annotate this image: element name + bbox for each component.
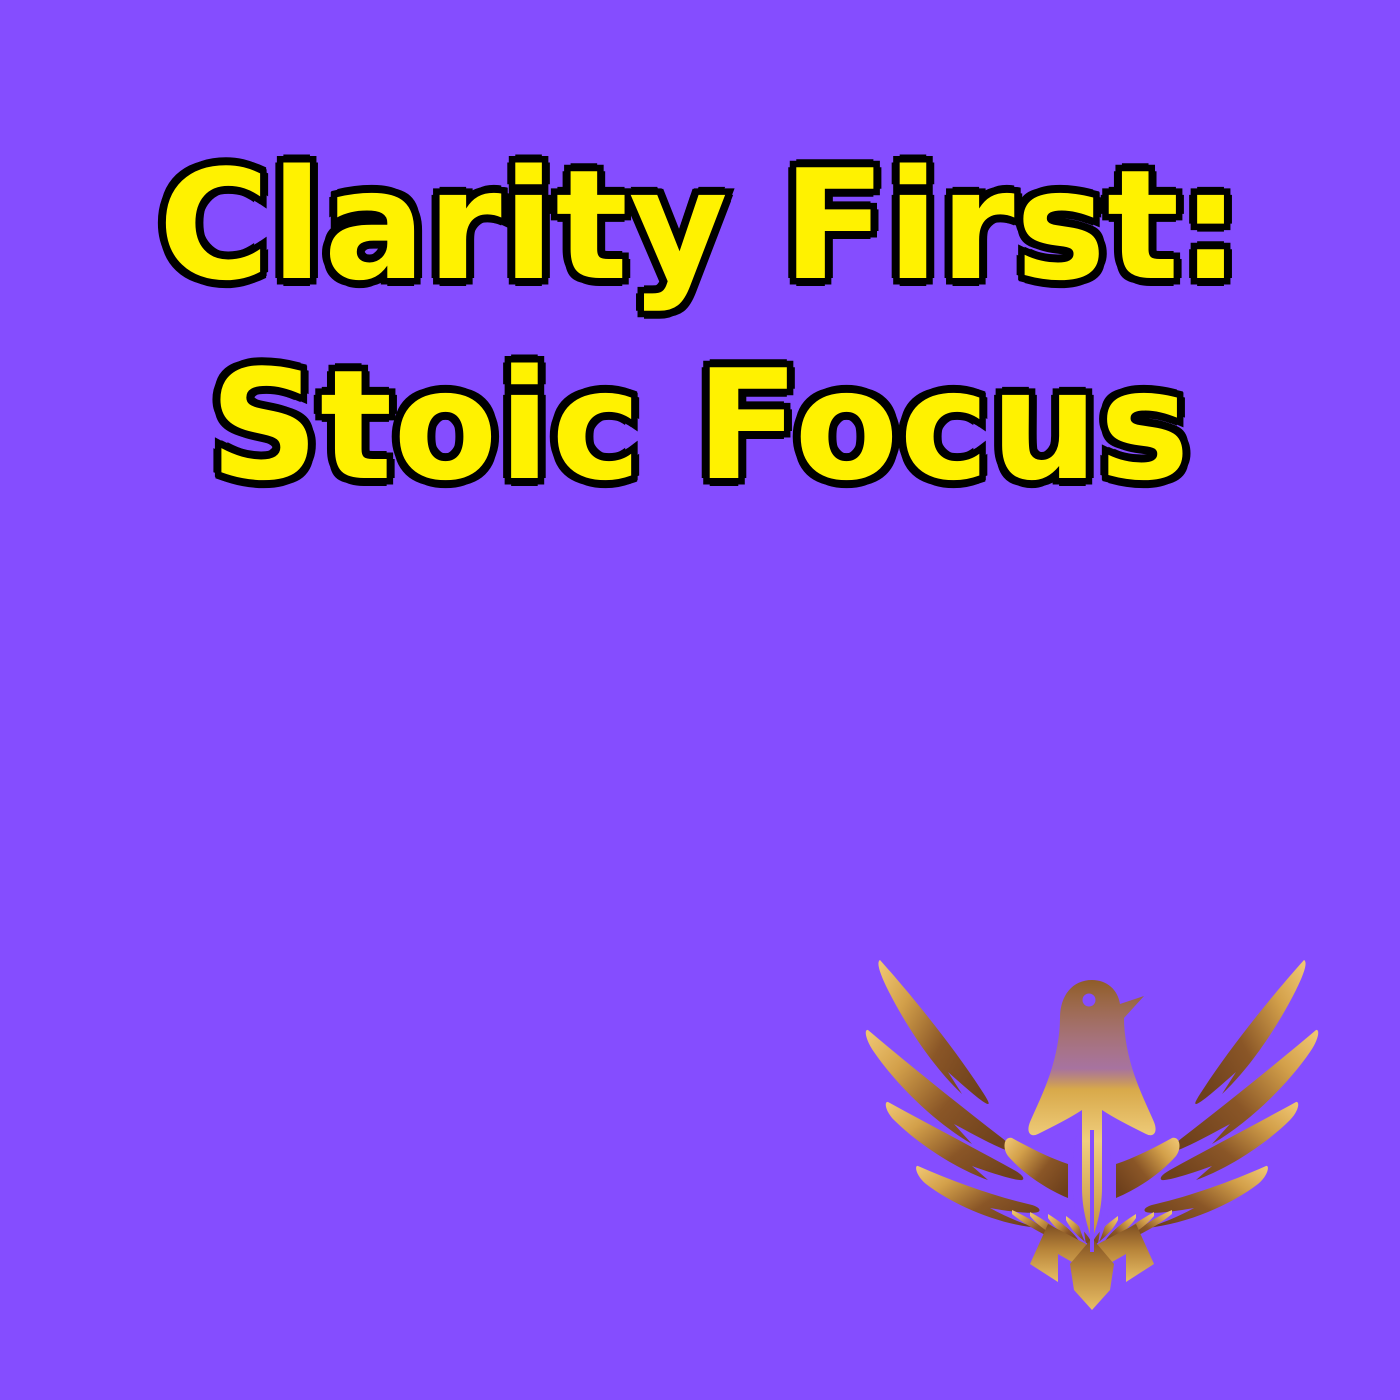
cover-art-canvas: Clarity First: Stoic Focus: [0, 0, 1400, 1400]
left-wing: [866, 960, 1068, 1228]
title-line-1: Clarity First:: [0, 150, 1400, 302]
phoenix-logo: [862, 952, 1322, 1312]
eye-icon: [1083, 994, 1096, 1007]
phoenix-bird-icon: [862, 952, 1322, 1312]
page-title: Clarity First: Stoic Focus: [0, 150, 1400, 502]
title-line-2: Stoic Focus: [0, 350, 1400, 502]
right-wing: [1116, 960, 1318, 1228]
